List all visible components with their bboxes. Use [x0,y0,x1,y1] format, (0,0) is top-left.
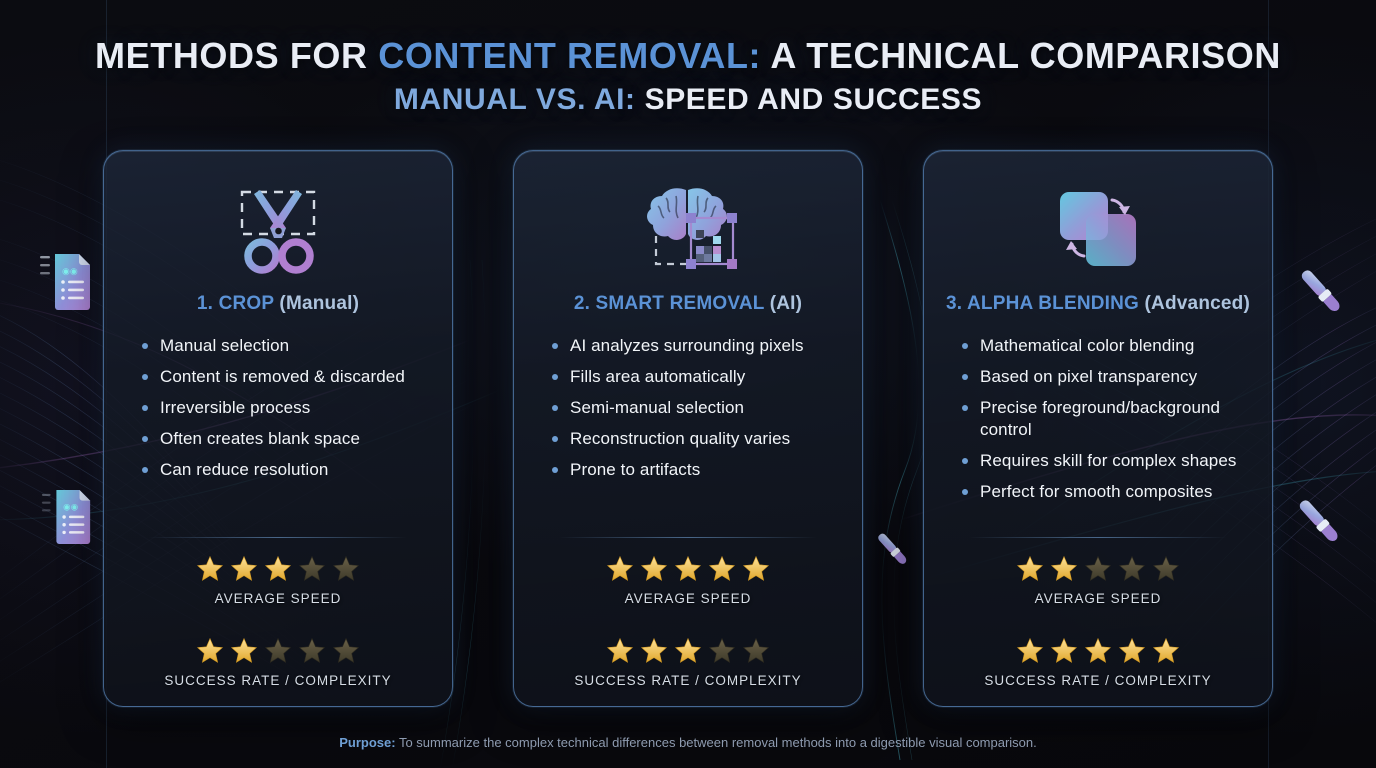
star-rating [944,554,1252,583]
star-filled [1151,636,1181,665]
brain-pixels-icon [636,181,740,279]
method-card-crop[interactable]: 1. CROP (Manual) Manual selection Conten… [103,150,453,707]
card-title-sub: (Manual) [279,293,359,314]
card-title-sub: (AI) [770,293,802,314]
list-item: Based on pixel transparency [960,366,1252,388]
star-filled [229,554,259,583]
star-filled [195,554,225,583]
star-filled [673,554,703,583]
rating-label: SUCCESS RATE / COMPLEXITY [944,673,1252,688]
rating-label: AVERAGE SPEED [534,591,842,606]
card-title-sub: (Advanced) [1145,293,1250,314]
star-filled [605,636,635,665]
title-line-1: METHODS FOR CONTENT REMOVAL: A TECHNICAL… [0,34,1376,78]
rating-label: AVERAGE SPEED [944,591,1252,606]
star-rating [124,554,432,583]
star-filled [1083,636,1113,665]
method-card-alpha-blending[interactable]: 3. ALPHA BLENDING (Advanced) Mathematica… [923,150,1273,707]
list-item: Mathematical color blending [960,335,1252,357]
star-filled [263,554,293,583]
star-rating [944,636,1252,665]
star-empty [297,554,327,583]
star-empty [297,636,327,665]
star-filled [1015,636,1045,665]
star-filled [673,636,703,665]
rating-label: AVERAGE SPEED [124,591,432,606]
list-item: Reconstruction quality varies [550,428,842,450]
list-item: Fills area automatically [550,366,842,388]
star-empty [331,554,361,583]
star-filled [639,636,669,665]
rating-label: SUCCESS RATE / COMPLEXITY [534,673,842,688]
star-filled [707,554,737,583]
list-item: Manual selection [140,335,432,357]
rating-success: SUCCESS RATE / COMPLEXITY [124,620,432,688]
title-line1-pre: METHODS FOR [95,35,378,76]
star-filled [639,554,669,583]
list-item: Perfect for smooth composites [960,481,1252,503]
star-empty [741,636,771,665]
star-rating [534,554,842,583]
title-line1-post: A TECHNICAL COMPARISON [761,35,1281,76]
star-filled [1015,554,1045,583]
footer-text: To summarize the complex technical diffe… [396,735,1037,750]
rating-speed: AVERAGE SPEED [124,538,432,606]
star-filled [605,554,635,583]
star-empty [1083,554,1113,583]
infographic-canvas: ◉◉ ◉◉ [0,0,1376,768]
star-empty [263,636,293,665]
overlapping-squares-icon [1046,181,1150,279]
list-item: Content is removed & discarded [140,366,432,388]
list-item: AI analyzes surrounding pixels [550,335,842,357]
list-item: Requires skill for complex shapes [960,450,1252,472]
star-empty [707,636,737,665]
scissors-crop-icon [226,181,330,279]
star-filled [1049,636,1079,665]
list-item: Often creates blank space [140,428,432,450]
title-line2-highlight: MANUAL VS. AI: [394,83,636,116]
star-rating [124,636,432,665]
list-item: Precise foreground/background control [960,397,1252,441]
page-title: METHODS FOR CONTENT REMOVAL: A TECHNICAL… [0,34,1376,120]
star-empty [1151,554,1181,583]
footer-purpose: Purpose: To summarize the complex techni… [0,735,1376,750]
title-line1-highlight: CONTENT REMOVAL: [378,35,761,76]
card-title-main: 3. ALPHA BLENDING [946,293,1139,314]
card-title: 1. CROP (Manual) [197,293,359,315]
card-title-main: 2. SMART REMOVAL [574,293,764,314]
rating-label: SUCCESS RATE / COMPLEXITY [124,673,432,688]
rating-speed: AVERAGE SPEED [534,538,842,606]
feature-list: AI analyzes surrounding pixels Fills are… [534,335,842,490]
rating-success: SUCCESS RATE / COMPLEXITY [944,620,1252,688]
list-item: Can reduce resolution [140,459,432,481]
card-title: 3. ALPHA BLENDING (Advanced) [946,293,1250,315]
title-line-2: MANUAL VS. AI: SPEED AND SUCCESS [0,80,1376,120]
star-filled [1117,636,1147,665]
list-item: Semi-manual selection [550,397,842,419]
star-filled [741,554,771,583]
star-filled [229,636,259,665]
star-empty [331,636,361,665]
list-item: Prone to artifacts [550,459,842,481]
list-item: Irreversible process [140,397,432,419]
title-line2-post: SPEED AND SUCCESS [636,83,982,116]
feature-list: Mathematical color blending Based on pix… [944,335,1252,512]
star-filled [1049,554,1079,583]
card-title: 2. SMART REMOVAL (AI) [574,293,802,315]
card-title-main: 1. CROP [197,293,274,314]
star-filled [195,636,225,665]
star-rating [534,636,842,665]
feature-list: Manual selection Content is removed & di… [124,335,432,490]
method-card-smart-removal[interactable]: 2. SMART REMOVAL (AI) AI analyzes surrou… [513,150,863,707]
star-empty [1117,554,1147,583]
method-card-list: 1. CROP (Manual) Manual selection Conten… [0,150,1376,710]
footer-label: Purpose: [339,735,395,750]
rating-success: SUCCESS RATE / COMPLEXITY [534,620,842,688]
rating-speed: AVERAGE SPEED [944,538,1252,606]
